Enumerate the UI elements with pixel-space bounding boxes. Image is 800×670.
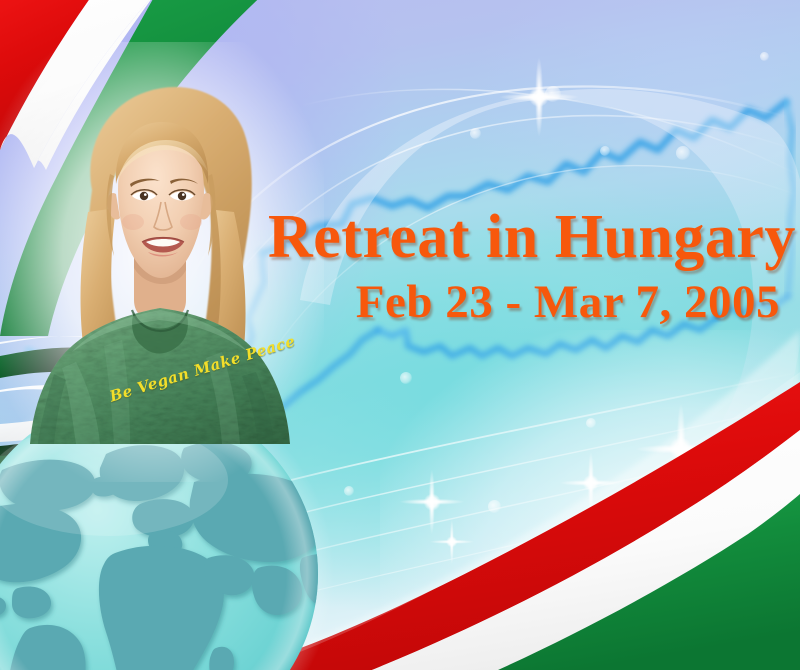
bokeh-dot-6 xyxy=(586,418,596,428)
background-tint-top-right xyxy=(470,0,800,270)
bokeh-dot-10 xyxy=(344,486,354,496)
poster-canvas: Be Vegan Make Peace Retreat in Hungary F… xyxy=(0,0,800,670)
bokeh-dot-2 xyxy=(470,128,481,139)
sparkle-star-top-right xyxy=(500,58,578,136)
bokeh-dot-8 xyxy=(690,496,701,507)
bokeh-dot-7 xyxy=(488,500,501,513)
bokeh-dot-4 xyxy=(600,146,610,156)
sparkle-star-center-right xyxy=(636,404,726,494)
page-title: Retreat in Hungary xyxy=(268,206,788,268)
sparkle-star-bottom xyxy=(430,520,474,564)
sparkle-star-center xyxy=(560,452,622,514)
bokeh-dot-5 xyxy=(400,372,412,384)
sparkle-star-lower-left xyxy=(400,470,464,534)
background-tint-white-bottom-right xyxy=(380,330,800,670)
woman-portrait: Be Vegan Make Peace xyxy=(18,72,290,444)
headline-block: Retreat in Hungary Feb 23 - Mar 7, 2005 xyxy=(268,206,788,327)
bokeh-dot-1 xyxy=(545,86,561,102)
bokeh-dot-9 xyxy=(760,52,769,61)
bokeh-dot-3 xyxy=(676,146,690,160)
event-dates: Feb 23 - Mar 7, 2005 xyxy=(268,278,788,327)
